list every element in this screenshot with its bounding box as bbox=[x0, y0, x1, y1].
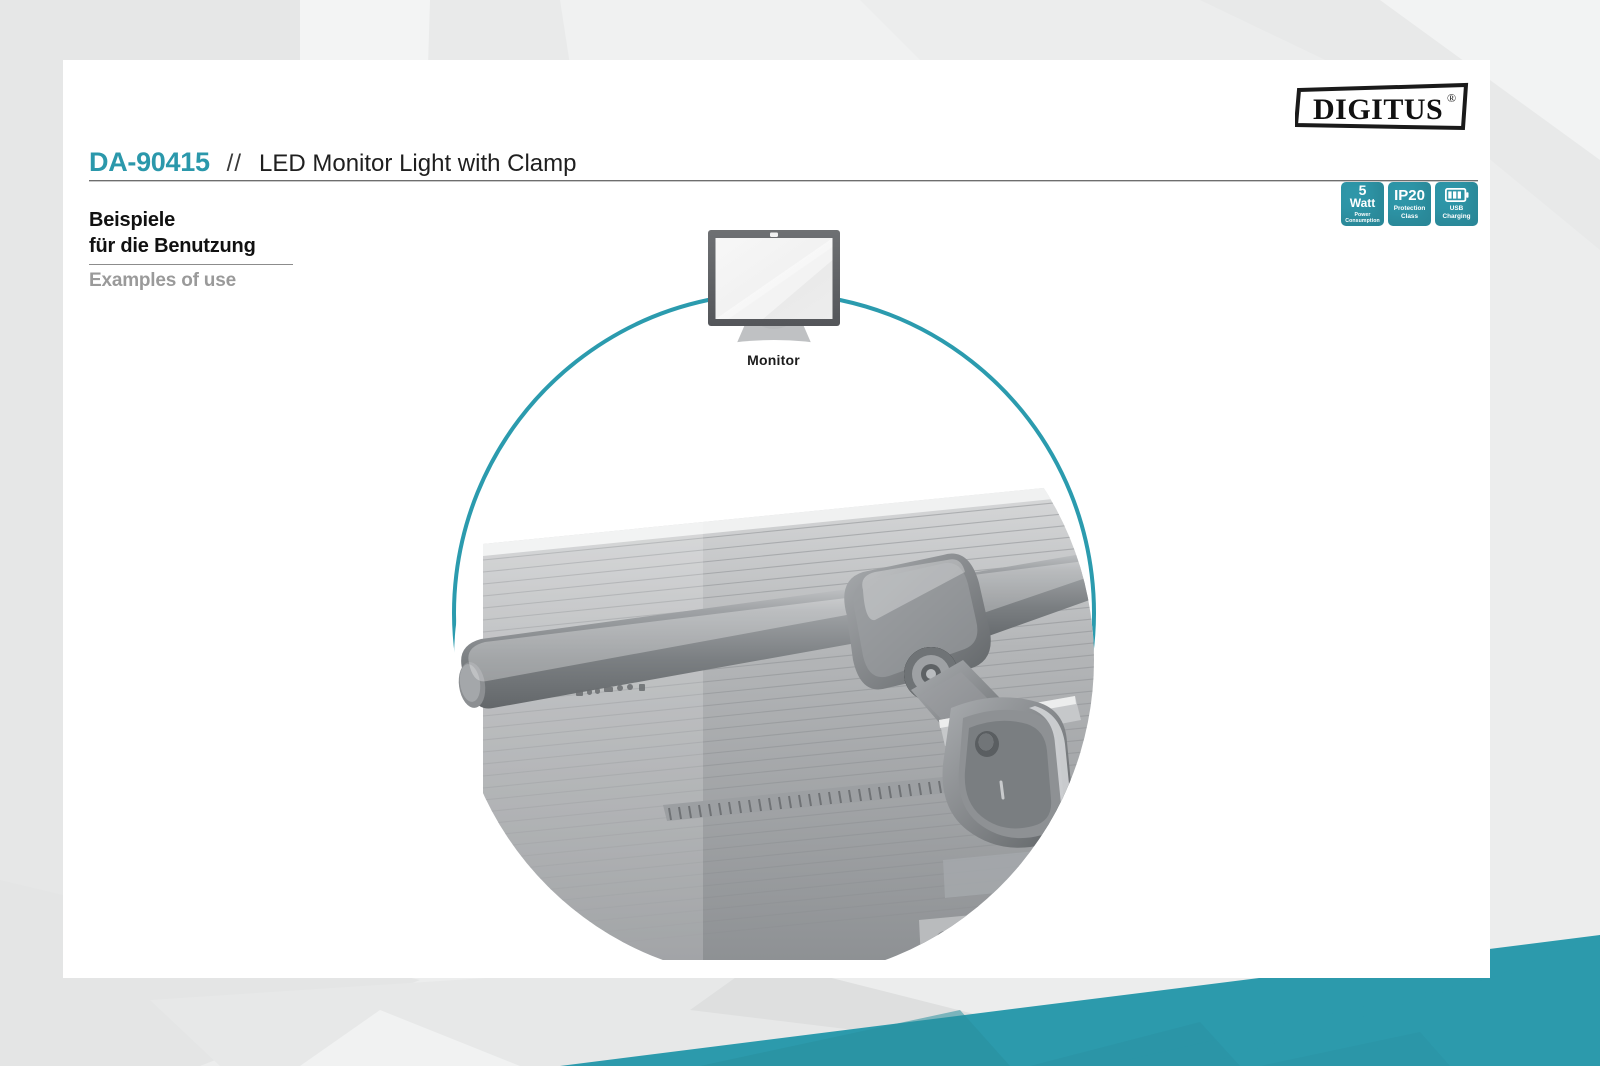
monitor-icon bbox=[708, 230, 840, 359]
monitor-caption-text: Monitor bbox=[747, 352, 800, 368]
webcam-dot-icon bbox=[770, 233, 778, 238]
content-card: DIGITUS ® DA-90415 // LED Monitor Light … bbox=[63, 60, 1490, 978]
product-photo bbox=[454, 340, 1123, 978]
monitor-caption: Monitor bbox=[63, 352, 1490, 368]
usage-example-illustration bbox=[63, 60, 1490, 978]
illustration-stage: Monitor bbox=[63, 60, 1490, 978]
